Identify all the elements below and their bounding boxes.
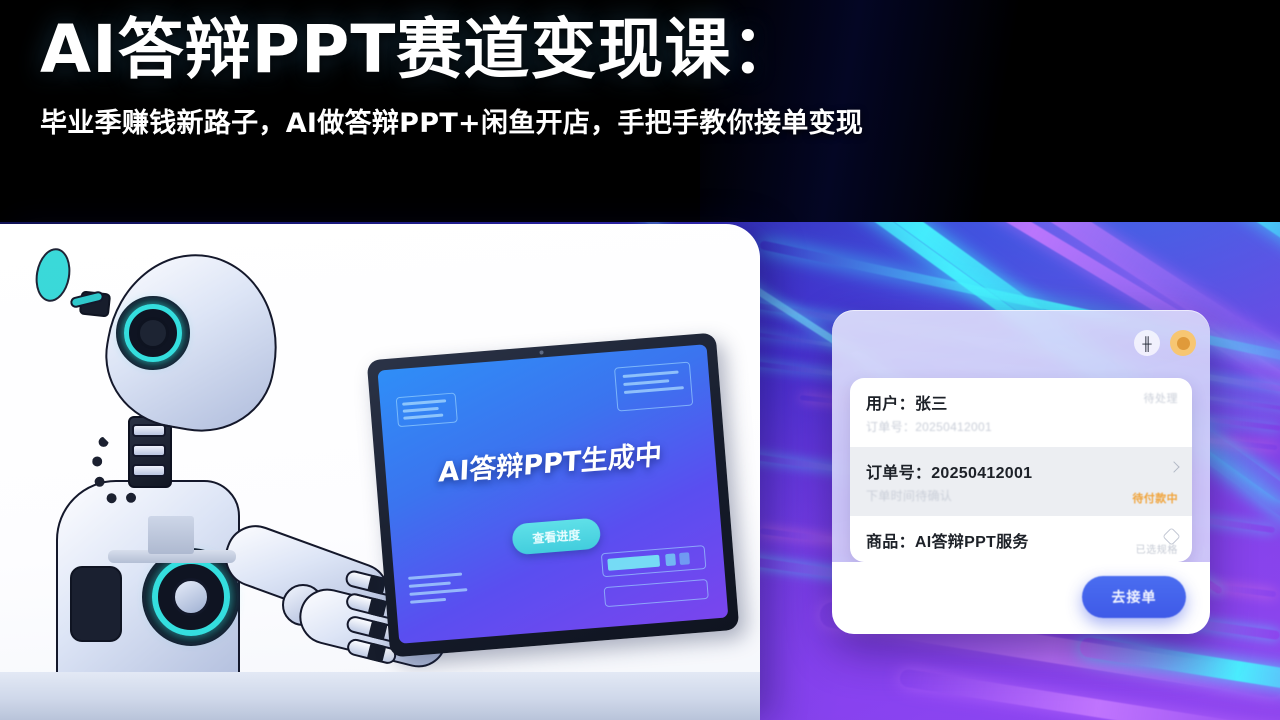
robot-neck-seg xyxy=(132,444,166,457)
product-name-label: 商品：AI答辩PPT服务 xyxy=(866,528,1176,552)
grid-icon[interactable]: ╫ xyxy=(1134,330,1160,356)
robot-neck-seg xyxy=(132,464,166,477)
screen-progress-tick xyxy=(679,552,690,565)
table-row[interactable]: 用户：张三 订单号：20250412001 待处理 xyxy=(850,378,1192,447)
webcam-icon xyxy=(539,350,543,354)
order-card: ╫ 用户：张三 订单号：20250412001 待处理 订单号：20250412… xyxy=(832,310,1210,634)
page-subtitle: 毕业季赚钱新路子，AI做答辩PPT+闲鱼开店，手把手教你接单变现 xyxy=(40,101,1280,140)
grid-icon-glyph: ╫ xyxy=(1142,337,1151,350)
robot-neck-seg xyxy=(132,424,166,437)
avatar-icon[interactable] xyxy=(1170,330,1196,356)
card-toolbar: ╫ xyxy=(1134,330,1196,356)
robot-chest-panel xyxy=(70,566,122,642)
poster-root: <|1 *?<)>-|{'< 7(<|<4 1>6 |) 1] '|( 1 8 … xyxy=(0,0,1280,720)
screen-ui-line xyxy=(408,573,462,580)
status-badge: 待付款中 xyxy=(1132,490,1178,506)
table-row[interactable]: 商品：AI答辩PPT服务 已选规格 xyxy=(850,516,1192,562)
card-footer: 去接单 xyxy=(832,562,1210,634)
order-time-subtext: 下单时间待确认 xyxy=(866,487,1176,504)
row-status-text: 待处理 xyxy=(1144,390,1179,406)
table-row[interactable]: 订单号：20250412001 下单时间待确认 待付款中 xyxy=(850,447,1192,516)
order-id-subtext: 订单号：20250412001 xyxy=(866,418,1176,435)
order-details-list: 用户：张三 订单号：20250412001 待处理 订单号：2025041200… xyxy=(850,378,1192,562)
order-number-label: 订单号：20250412001 xyxy=(866,459,1176,483)
monitor-stand xyxy=(148,516,194,554)
screen-ui-box xyxy=(604,579,709,607)
screen-cta-button[interactable]: 查看进度 xyxy=(511,518,601,556)
robot-cheek-light xyxy=(32,245,75,304)
screen-ui-line xyxy=(410,598,446,604)
desk-surface xyxy=(0,672,760,720)
monitor: AI答辩PPT生成中 查看进度 xyxy=(367,332,740,657)
avatar-dot xyxy=(1177,337,1190,350)
robot-chest-core xyxy=(172,578,210,616)
screen-ui-line xyxy=(409,581,451,587)
monitor-screen: AI答辩PPT生成中 查看进度 xyxy=(377,344,728,644)
illustration-panel: AI答辩PPT生成中 查看进度 xyxy=(0,224,760,720)
header-banner: AI答辩PPT赛道变现课： 毕业季赚钱新路子，AI做答辩PPT+闲鱼开店，手把手… xyxy=(0,0,1280,222)
screen-headline: AI答辩PPT生成中 xyxy=(438,433,663,490)
product-spec-text: 已选规格 xyxy=(1136,541,1178,556)
screen-progress-tick xyxy=(665,553,676,566)
user-name-label: 用户：张三 xyxy=(866,390,1176,414)
take-order-button[interactable]: 去接单 xyxy=(1082,576,1186,618)
page-title: AI答辩PPT赛道变现课： xyxy=(40,14,1280,85)
monitor-bezel: AI答辩PPT生成中 查看进度 xyxy=(367,332,740,657)
robot-illustration xyxy=(36,248,366,718)
screen-ui-line xyxy=(409,588,467,596)
robot-pupil xyxy=(137,317,169,349)
